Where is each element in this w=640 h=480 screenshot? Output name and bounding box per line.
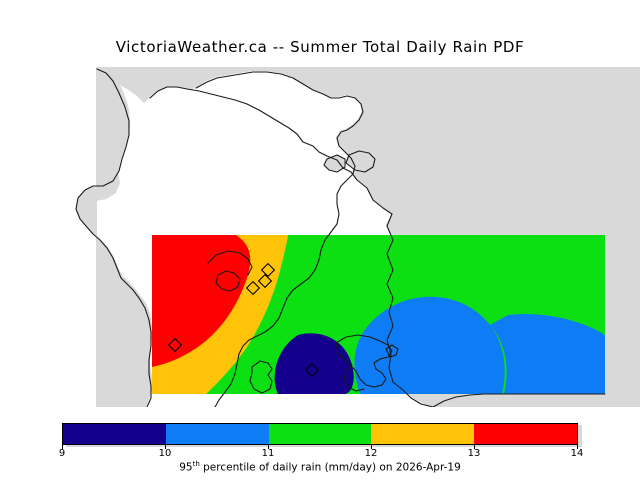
west-sea-polygon — [0, 67, 96, 407]
caption-percentile-number: 95 — [179, 462, 192, 474]
colorbar-ticks — [0, 445, 640, 449]
colorbar-tick-label-11: 11 — [262, 448, 275, 459]
colorbar-segment-9-10 — [63, 424, 166, 444]
map-canvas — [0, 67, 640, 407]
colorbar-tick-label-9: 9 — [59, 448, 65, 459]
colorbar-caption: 95th percentile of daily rain (mm/day) o… — [0, 460, 640, 474]
colorbar-segment-12-13 — [371, 424, 474, 444]
page-title: VictoriaWeather.ca -- Summer Total Daily… — [0, 38, 640, 56]
colorbar-segment-11-12 — [269, 424, 372, 444]
colorbar-tick-label-13: 13 — [468, 448, 481, 459]
colorbar — [62, 423, 578, 445]
colorbar-tick-label-12: 12 — [365, 448, 378, 459]
colorbar-tick-label-14: 14 — [571, 448, 584, 459]
map-panel — [0, 67, 640, 407]
colorbar-segment-10-11 — [166, 424, 269, 444]
colorbar-segment-13-14 — [474, 424, 577, 444]
caption-text: percentile of daily rain (mm/day) on 202… — [200, 462, 461, 474]
weather-map-page: VictoriaWeather.ca -- Summer Total Daily… — [0, 0, 640, 480]
colorbar-tick-label-10: 10 — [159, 448, 172, 459]
caption-ordinal-suffix: th — [193, 460, 200, 468]
